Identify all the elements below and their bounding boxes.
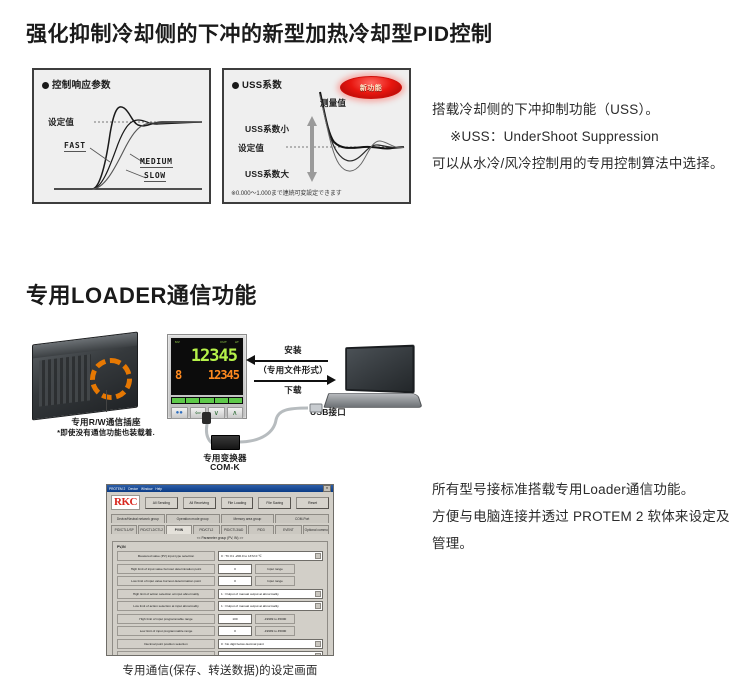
row-unit: Input range <box>255 564 295 574</box>
row-label: Measured value (PV) input type selection <box>117 551 215 561</box>
software-tabs-row-2: PID/CTL1/SP PID/CTL2/CTL2 PV/IN PID/CTL2… <box>107 525 333 534</box>
description-line: 所有型号接标准搭载专用Loader通信功能。 <box>432 476 742 503</box>
measured-value-label: 测量值 <box>320 97 346 109</box>
curve-label-medium: MEDIUM <box>140 157 173 168</box>
form-row: High limit of action selection at input … <box>117 589 323 599</box>
row-combo[interactable]: 0 : No digit below decimal point <box>218 639 323 649</box>
row-unit: -19999 to 45000 <box>255 614 295 624</box>
setpoint-label-left: 设定值 <box>48 116 74 128</box>
software-tabs-row-1: Device/Neutral network group Operation m… <box>107 514 333 523</box>
reset-button[interactable]: Reset <box>296 497 329 509</box>
row-label: Square root extraction selection <box>117 651 215 656</box>
form-row: Low limit of action selection at input a… <box>117 601 323 611</box>
page-title-pid: 强化抑制冷却侧的下冲的新型加热冷却型PID控制 <box>26 18 493 48</box>
parameter-group-title: << Parameter group (PV, IN) >> <box>107 536 333 540</box>
description-loader: 所有型号接标准搭载专用Loader通信功能。 方便与电脑连接并透过 PROTEM… <box>432 476 742 557</box>
form-row: Decimal point position selection 0 : No … <box>117 639 323 649</box>
file-saving-button[interactable]: File Saving <box>258 497 291 509</box>
software-toolbar: RKC All Sending All Receiving File Loadi… <box>107 492 333 512</box>
protem-software-window[interactable]: PROTEM 2 Device Window Help ✕ RKC All Se… <box>106 484 334 656</box>
row-number-input[interactable]: 0 <box>218 576 252 586</box>
description-line: ※USS：UnderShoot Suppression <box>432 123 742 150</box>
row-label: High limit of input value burnout determ… <box>117 564 215 574</box>
form-row: Low limit of input programmable range 0 … <box>117 626 323 636</box>
tab-memory-area-group[interactable]: Memory area group <box>221 514 275 523</box>
description-line: 搭载冷却侧的下冲抑制功能（USS）。 <box>432 96 742 123</box>
uss-range-note: ※0.000～1.000まで連続可変設定できます <box>231 188 342 197</box>
tab-operation-mode-group[interactable]: Operation mode group <box>166 514 220 523</box>
row-label: Decimal point position selection <box>117 639 215 649</box>
com-k-converter <box>211 435 240 450</box>
row-combo[interactable]: 1 : Output of manual output at abnormali… <box>218 589 323 599</box>
tab-pid-ctl3-ad[interactable]: PID/CTL3/AD <box>221 525 247 534</box>
uss-coefficient-graph <box>224 70 411 204</box>
row-unit: Input range <box>255 576 295 586</box>
tab-pid3[interactable]: PID3 <box>248 525 274 534</box>
menu-device[interactable]: Device <box>128 487 138 491</box>
row-number-input[interactable]: 0 <box>218 626 252 636</box>
rkc-logo: RKC <box>111 495 140 510</box>
tab-optional-communication[interactable]: Optional communication <box>303 525 329 534</box>
description-line: 方便与电脑连接并透过 PROTEM 2 软体来设定及管理。 <box>432 503 742 557</box>
row-combo[interactable]: 0 : TC K1 -200.0 to 1372.0 ℃ <box>218 551 323 561</box>
tab-pv-in[interactable]: PV/IN <box>166 525 192 534</box>
form-row: High limit of input programmable range 1… <box>117 614 323 624</box>
menu-help[interactable]: Help <box>155 487 162 491</box>
description-pid: 搭载冷却侧的下冲抑制功能（USS）。 ※USS：UnderShoot Suppr… <box>432 96 742 177</box>
loader-connection-diagram: 专用R/W通信插座 *即使没有通信功能也装载着. MV OUT AT 12345… <box>22 328 422 473</box>
form-row: Measured value (PV) input type selection… <box>117 551 323 561</box>
all-receiving-button[interactable]: All Receiving <box>183 497 216 509</box>
description-line: 可以从水冷/风冷控制用的专用控制算法中选择。 <box>432 150 742 177</box>
software-titlebar: PROTEM 2 Device Window Help ✕ <box>107 485 333 492</box>
tab-pid-ctl2b[interactable]: PID/CTL2 <box>193 525 219 534</box>
panel-uss-coefficient: USS系数 新功能 测量值 USS系数小 设定值 USS系数大 ※0.000～1… <box>222 68 411 204</box>
titlebar-app-name: PROTEM 2 <box>109 487 125 491</box>
form-row: Low limit of input value burnout determi… <box>117 576 323 586</box>
row-label: Low limit of input programmable range <box>117 626 215 636</box>
parameter-form: PV,IN Measured value (PV) input type sel… <box>112 541 328 656</box>
row-label: Low limit of input value burnout determi… <box>117 576 215 586</box>
tab-event[interactable]: EVENT <box>275 525 301 534</box>
row-number-input[interactable]: 100 <box>218 614 252 624</box>
file-loading-button[interactable]: File Loading <box>221 497 254 509</box>
curve-label-slow: SLOW <box>144 171 166 182</box>
screenshot-caption: 专用通信(保存、转送数据)的设定画面 <box>106 662 334 678</box>
close-icon[interactable]: ✕ <box>323 485 331 492</box>
menu-window[interactable]: Window <box>141 487 152 491</box>
row-label: High limit of input programmable range <box>117 614 215 624</box>
tab-pid-ctl1-sp[interactable]: PID/CTL1/SP <box>111 525 137 534</box>
form-row: High limit of input value burnout determ… <box>117 564 323 574</box>
row-label: High limit of action selection at input … <box>117 589 215 599</box>
tab-pid-ctl2[interactable]: PID/CTL2/CTL2 <box>138 525 164 534</box>
form-row: Square root extraction selection 0 : Not… <box>117 651 323 656</box>
control-response-graph <box>34 70 211 204</box>
tab-device-network-group[interactable]: Device/Neutral network group <box>111 514 165 523</box>
uss-large-label: USS系数大 <box>245 168 289 180</box>
uss-small-label: USS系数小 <box>245 123 289 135</box>
all-sending-button[interactable]: All Sending <box>145 497 178 509</box>
row-unit: -19999 to 45000 <box>255 626 295 636</box>
row-number-input[interactable]: 0 <box>218 564 252 574</box>
tab-com-port[interactable]: COM-Port <box>275 514 329 523</box>
row-label: Low limit of action selection at input a… <box>117 601 215 611</box>
row-combo[interactable]: 1 : Output of manual output at abnormali… <box>218 601 323 611</box>
form-group-label: PV,IN <box>117 545 323 549</box>
panel-control-response: 控制响应参数 设定值 FAST MEDIUM SLOW <box>32 68 211 204</box>
row-combo[interactable]: 0 : Not provided <box>218 651 323 656</box>
converter-model: COM-K <box>182 462 268 472</box>
setpoint-label-right: 设定值 <box>238 142 264 154</box>
page-title-loader: 专用LOADER通信功能 <box>26 278 257 310</box>
curve-label-fast: FAST <box>64 141 86 152</box>
